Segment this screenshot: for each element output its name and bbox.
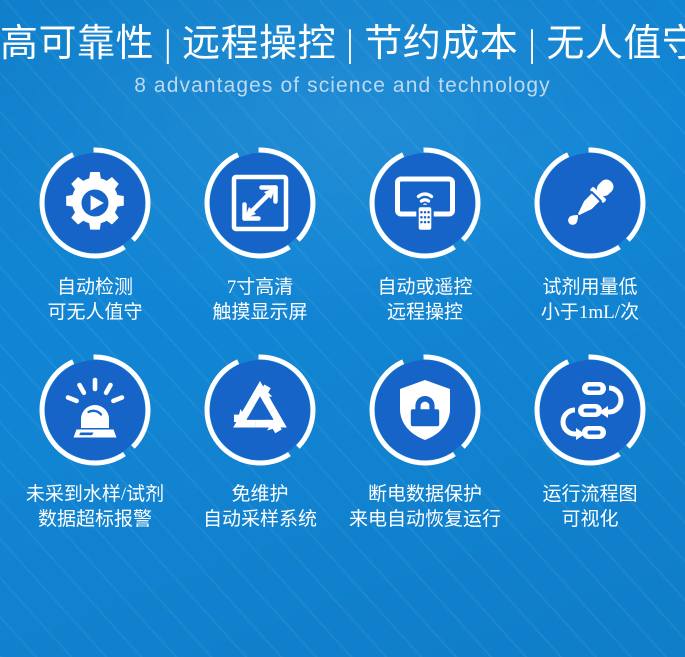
- advantage-item-remote-control[interactable]: 自动或遥控 远程操控: [344, 146, 506, 325]
- advantage-item-power-protection[interactable]: 断电数据保护 来电自动恢复运行: [344, 353, 506, 532]
- advantage-caption: 断电数据保护 来电自动恢复运行: [349, 482, 501, 532]
- badge-touchscreen: [203, 146, 317, 260]
- alarm-siren-icon: [61, 376, 129, 444]
- page-title: 高可靠性 | 远程操控 | 节约成本 | 无人值守: [0, 0, 685, 67]
- advantage-caption: 免维护 自动采样系统: [203, 482, 317, 532]
- caption-line-2: 数据超标报警: [26, 507, 164, 532]
- advantage-item-reagent-usage[interactable]: 试剂用量低 小于1mL/次: [509, 146, 671, 325]
- advantage-caption: 自动检测 可无人值守: [47, 275, 142, 325]
- advantage-item-alarm[interactable]: 未采到水样/试剂 数据超标报警: [14, 353, 176, 532]
- badge-flowchart: [533, 353, 647, 467]
- caption-line-2: 远程操控: [377, 300, 472, 325]
- advantage-caption: 试剂用量低 小于1mL/次: [541, 275, 639, 325]
- badge-maintenance-free: [203, 353, 317, 467]
- gear-play-icon: [61, 169, 129, 237]
- badge-auto-detect: [38, 146, 152, 260]
- advantage-item-touchscreen[interactable]: 7寸高清 触摸显示屏: [179, 146, 341, 325]
- caption-line-1: 未采到水样/试剂: [26, 484, 164, 505]
- caption-line-1: 自动检测: [57, 277, 133, 298]
- caption-line-1: 运行流程图: [542, 484, 637, 505]
- flowchart-loop-icon: [556, 376, 624, 444]
- advantage-item-auto-detect[interactable]: 自动检测 可无人值守: [14, 146, 176, 325]
- badge-reagent-usage: [533, 146, 647, 260]
- caption-line-2: 可视化: [542, 507, 637, 532]
- caption-line-1: 自动或遥控: [377, 277, 472, 298]
- advantage-item-maintenance-free[interactable]: 免维护 自动采样系统: [179, 353, 341, 532]
- dropper-pipette-icon: [556, 169, 624, 237]
- advantages-row-1: 自动检测 可无人值守: [0, 146, 685, 325]
- advantage-caption: 未采到水样/试剂 数据超标报警: [26, 482, 164, 532]
- badge-power-protection: [368, 353, 482, 467]
- tv-remote-wifi-icon: [391, 169, 459, 237]
- badge-remote-control: [368, 146, 482, 260]
- caption-line-2: 可无人值守: [47, 300, 142, 325]
- caption-line-1: 试剂用量低: [542, 277, 637, 298]
- infographic-poster: 高可靠性 | 远程操控 | 节约成本 | 无人值守 8 advantages o…: [0, 0, 685, 657]
- caption-line-2: 小于1mL/次: [541, 300, 639, 325]
- advantage-caption: 自动或遥控 远程操控: [377, 275, 472, 325]
- advantages-grid: 自动检测 可无人值守: [0, 146, 685, 532]
- page-subtitle: 8 advantages of science and technology: [0, 67, 685, 99]
- caption-line-2: 触摸显示屏: [212, 300, 307, 325]
- advantage-caption: 运行流程图 可视化: [542, 482, 637, 532]
- advantage-caption: 7寸高清 触摸显示屏: [212, 275, 307, 325]
- caption-line-2: 自动采样系统: [203, 507, 317, 532]
- advantages-row-2: 未采到水样/试剂 数据超标报警: [0, 353, 685, 532]
- caption-line-2: 来电自动恢复运行: [349, 507, 501, 532]
- recycle-icon: [226, 376, 294, 444]
- badge-alarm: [38, 353, 152, 467]
- expand-screen-icon: [226, 169, 294, 237]
- shield-lock-icon: [391, 376, 459, 444]
- caption-line-1: 7寸高清: [227, 277, 294, 298]
- poster-header: 高可靠性 | 远程操控 | 节约成本 | 无人值守 8 advantages o…: [0, 0, 685, 99]
- caption-line-1: 断电数据保护: [368, 484, 482, 505]
- caption-line-1: 免维护: [231, 484, 288, 505]
- advantage-item-flowchart[interactable]: 运行流程图 可视化: [509, 353, 671, 532]
